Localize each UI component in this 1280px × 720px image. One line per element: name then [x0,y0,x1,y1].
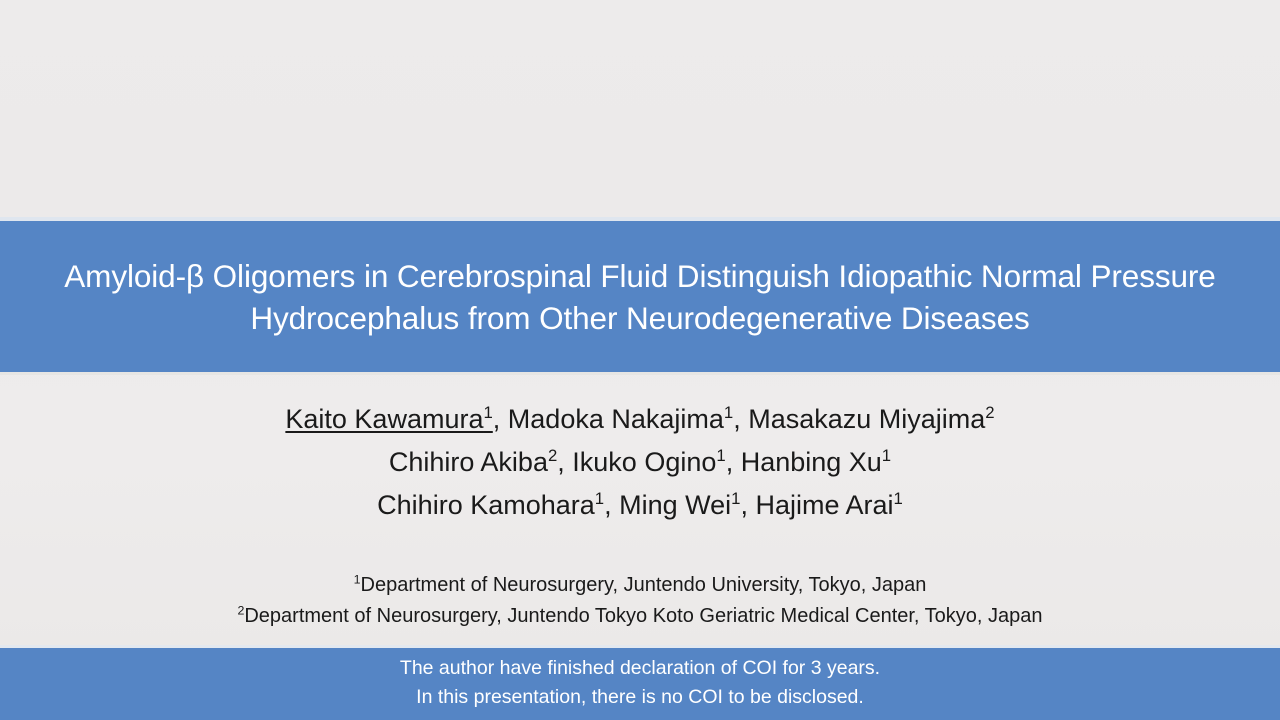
author-line-1-rest: , Madoka Nakajima [493,404,724,434]
author-nakajima-affiliation-marker: 1 [724,403,733,422]
author-wei: , Ming Wei [604,490,731,520]
author-arai-affiliation-marker: 1 [894,489,903,508]
presenting-author: Kaito Kawamura1 [285,404,492,434]
title-line-2: Hydrocephalus from Other Neurodegenerati… [250,297,1029,339]
author-line-1-mid: , Masakazu Miyajima [733,404,985,434]
author-ogino: , Ikuko Ogino [557,447,716,477]
coi-disclosure-banner: The author have finished declaration of … [0,648,1280,720]
coi-line-2: In this presentation, there is no COI to… [416,683,864,712]
coi-line-1: The author have finished declaration of … [400,654,880,683]
author-list: Kaito Kawamura1, Madoka Nakajima1, Masak… [0,398,1280,527]
presenting-author-name: Kaito Kawamura [285,404,483,434]
affiliation-list: 1Department of Neurosurgery, Juntendo Un… [0,570,1280,632]
author-xu: , Hanbing Xu [726,447,882,477]
author-line-2: Chihiro Akiba2, Ikuko Ogino1, Hanbing Xu… [0,441,1280,484]
presenting-author-affiliation-marker: 1 [483,403,492,422]
affiliation-1-marker: 1 [354,572,361,586]
affiliation-line-2: 2Department of Neurosurgery, Juntendo To… [0,601,1280,632]
author-akiba: Chihiro Akiba [389,447,548,477]
author-akiba-affiliation-marker: 2 [548,446,557,465]
presentation-slide: Amyloid-β Oligomers in Cerebrospinal Flu… [0,0,1280,720]
author-kamohara: Chihiro Kamohara [377,490,595,520]
title-banner: Amyloid-β Oligomers in Cerebrospinal Flu… [0,221,1280,372]
author-line-1: Kaito Kawamura1, Madoka Nakajima1, Masak… [0,398,1280,441]
affiliation-line-1: 1Department of Neurosurgery, Juntendo Un… [0,570,1280,601]
title-line-1: Amyloid-β Oligomers in Cerebrospinal Flu… [64,255,1215,297]
affiliation-2-text: Department of Neurosurgery, Juntendo Tok… [244,605,1042,627]
author-line-3: Chihiro Kamohara1, Ming Wei1, Hajime Ara… [0,484,1280,527]
author-miyajima-affiliation-marker: 2 [985,403,994,422]
author-ogino-affiliation-marker: 1 [716,446,725,465]
author-xu-affiliation-marker: 1 [882,446,891,465]
author-arai: , Hajime Arai [740,490,893,520]
author-kamohara-affiliation-marker: 1 [595,489,604,508]
affiliation-1-text: Department of Neurosurgery, Juntendo Uni… [361,574,927,596]
